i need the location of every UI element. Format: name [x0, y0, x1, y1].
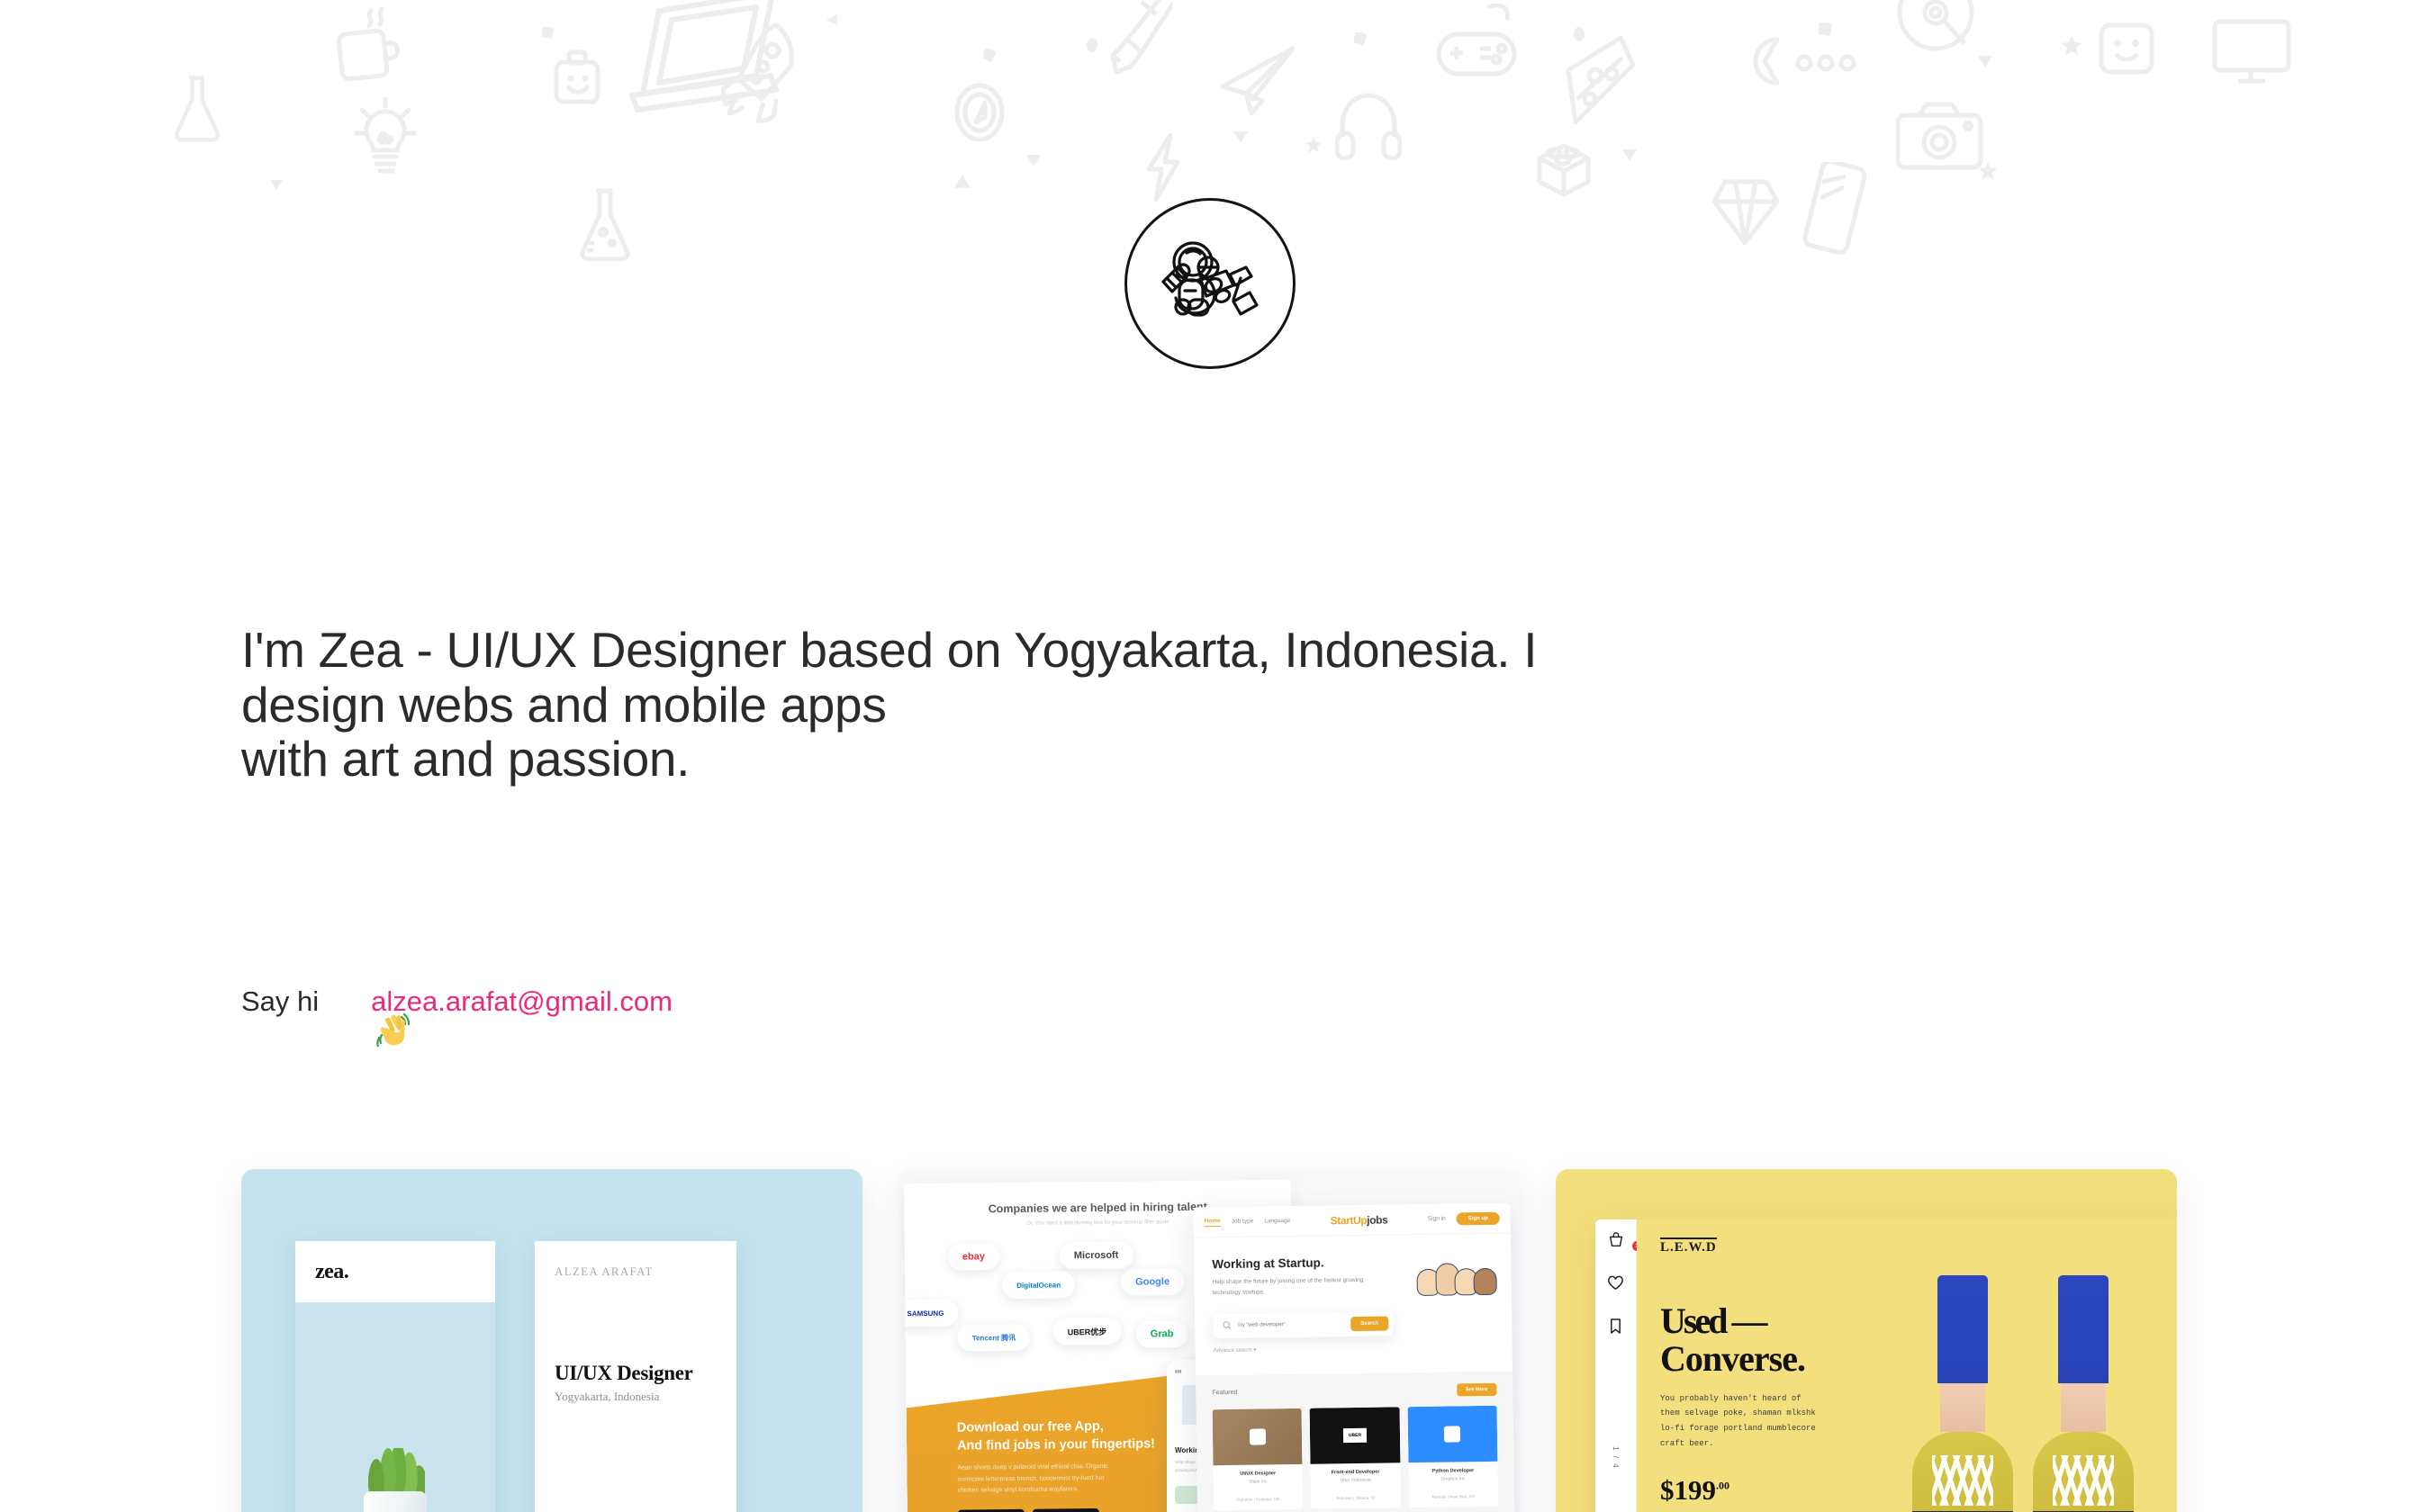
astronaut-logo-icon	[1124, 198, 1296, 369]
sparkle-icon	[542, 27, 555, 40]
see-more-button[interactable]: See More	[1457, 1382, 1497, 1396]
coffee-mug-icon	[333, 7, 403, 85]
lightbulb-icon	[353, 97, 418, 184]
contact-email-link[interactable]: alzea.arafat@gmail.com	[371, 987, 673, 1015]
job-company: Slack Inc	[1219, 1479, 1297, 1485]
nav-signin[interactable]: Sign in	[1428, 1216, 1446, 1222]
laptop-icon	[621, 0, 780, 119]
waving-hand-emoji	[328, 983, 364, 1019]
headphones-icon	[1335, 90, 1402, 160]
job-card[interactable]: Python Developer Dropbox Inc Remote | Ne…	[1407, 1405, 1498, 1507]
dot-icon	[378, 131, 389, 142]
cd-disc-icon	[1896, 0, 1975, 59]
lego-brick-icon	[1531, 135, 1597, 205]
plant-decoration	[361, 1448, 429, 1512]
star-icon	[2062, 36, 2081, 56]
smiley-icon	[2098, 13, 2155, 79]
project-card-converse-shop[interactable]: 3 1 / 4	[1556, 1169, 2177, 1512]
rocket-icon	[717, 20, 807, 124]
shop-browser-mockup: 3 1 / 4	[1595, 1219, 2177, 1512]
project-cards: zea. ALZEA ARAFAT UI/UX Designer Yogyaka…	[241, 1169, 2179, 1512]
site-hero: Working at Startup. Help shape the futur…	[1194, 1234, 1512, 1369]
search-button[interactable]: Search	[1350, 1317, 1388, 1332]
featured-jobs-section: Featured See More UI/UX Designer Slack I…	[1196, 1371, 1514, 1512]
say-hi-label: Say hi	[241, 987, 319, 1015]
cart-icon[interactable]: 3	[1608, 1232, 1624, 1253]
sparkle-icon	[1819, 22, 1833, 37]
lego-head-icon	[551, 49, 605, 114]
site-brand: StartUpjobs	[1331, 1213, 1388, 1227]
bizcard-location: Yogyakarta, Indonesia	[555, 1390, 717, 1404]
search-input[interactable]	[1237, 1321, 1344, 1328]
headline-line-1: I'm Zea - UI/UX Designer based on Yogyak…	[241, 623, 2132, 678]
google-play-badge[interactable]: ▶ Google play	[1033, 1508, 1099, 1512]
search-icon	[1223, 1318, 1231, 1334]
triangle-icon	[270, 180, 283, 191]
heart-icon[interactable]	[1607, 1274, 1624, 1296]
job-search-bar[interactable]: Search	[1213, 1311, 1393, 1338]
product-description: You probably haven't heard of them selva…	[1660, 1391, 1820, 1452]
pencil-icon	[1091, 0, 1172, 76]
lightning-bolt-icon	[1143, 133, 1183, 202]
triangle-icon	[1622, 149, 1637, 162]
screen-icon	[2211, 18, 2292, 88]
headline-line-3: with art and passion.	[241, 732, 2132, 787]
job-meta: Full-time | Jakarta, ID	[1316, 1495, 1395, 1500]
download-paragraph: Aean shorts deep v polaroid viral ethica…	[957, 1462, 1115, 1498]
bizcard-front: zea.	[295, 1241, 495, 1512]
camera-icon	[1896, 99, 1984, 173]
bizcard-back: ALZEA ARAFAT UI/UX Designer Yogyakarta, …	[535, 1241, 736, 1512]
sparkle-icon	[983, 49, 998, 63]
triangle-icon	[1978, 56, 1992, 68]
contact-line: Say hi alzea.arafat@gmail.com	[241, 983, 673, 1019]
job-title: Python Developer	[1413, 1468, 1492, 1474]
bizcard-name: ALZEA ARAFAT	[555, 1264, 717, 1279]
job-thumb	[1407, 1405, 1497, 1462]
nav-language[interactable]: Language	[1264, 1218, 1290, 1224]
paper-plane-icon	[1217, 45, 1298, 117]
headline-line-2: design webs and mobile apps	[241, 678, 2132, 733]
star-icon	[1305, 137, 1322, 153]
site-navbar: Home Job type Language StartUpjobs Sign …	[1193, 1203, 1510, 1238]
triangle-icon	[1233, 131, 1248, 144]
triangle-icon	[954, 175, 971, 189]
startupjobs-site-mockup: Home Job type Language StartUpjobs Sign …	[1193, 1203, 1514, 1512]
logo-uber: UBER优步	[1053, 1318, 1122, 1345]
site-logo[interactable]	[1124, 198, 1296, 369]
nav-jobtype[interactable]: Job type	[1232, 1219, 1254, 1225]
triangle-icon	[1026, 155, 1041, 167]
portfolio-page: I'm Zea - UI/UX Designer based on Yogyak…	[0, 0, 2420, 1512]
bookmark-icon[interactable]	[1609, 1318, 1622, 1339]
job-card[interactable]: UBER Front-end Developer Uber Indonesia …	[1310, 1407, 1401, 1508]
page-headline: I'm Zea - UI/UX Designer based on Yogyak…	[241, 623, 2132, 787]
shop-sidebar: 3 1 / 4	[1595, 1219, 1637, 1512]
converse-photo	[1896, 1219, 2177, 1512]
smartphone-icon	[1801, 162, 1867, 257]
pacman-icon	[1738, 36, 1864, 86]
project-card-business-card[interactable]: zea. ALZEA ARAFAT UI/UX Designer Yogyaka…	[241, 1169, 862, 1512]
job-meta: Full-time | Portland, OR	[1219, 1497, 1297, 1502]
diamond-icon	[1711, 173, 1781, 247]
job-company: Dropbox Inc	[1413, 1476, 1492, 1482]
nav-home[interactable]: Home	[1205, 1218, 1221, 1227]
logo-digitalocean: DigitalOcean	[1002, 1271, 1075, 1299]
people-illustration	[1421, 1263, 1496, 1296]
shop-brand: L.E.W.D	[1660, 1237, 1717, 1255]
job-title: UI/UX Designer	[1219, 1471, 1297, 1477]
advance-search-toggle[interactable]: Advance search ▾	[1214, 1344, 1494, 1354]
dot-icon	[1573, 27, 1585, 41]
logo-grab: Grab	[1136, 1320, 1188, 1348]
flask-icon	[171, 74, 223, 144]
sparkle-icon	[1354, 32, 1368, 47]
star-icon	[1979, 162, 1997, 180]
logo-ebay: ebay	[948, 1243, 999, 1271]
logo-samsung: SAMSUNG	[904, 1300, 959, 1327]
job-meta: Remote | New York, NY	[1414, 1494, 1493, 1499]
bizcard-role: UI/UX Designer	[555, 1362, 717, 1385]
job-title: Front-end Developer	[1316, 1469, 1395, 1475]
nav-signup-button[interactable]: Sign up	[1457, 1211, 1500, 1225]
job-thumb: UBER	[1310, 1407, 1400, 1463]
logo-tencent: Tencent 腾讯	[958, 1324, 1031, 1352]
shop-hero: L.E.W.D Used — Converse. You probably ha…	[1637, 1219, 2177, 1512]
triangle-icon	[825, 13, 839, 27]
dot-icon	[1086, 38, 1098, 52]
hero-paragraph: Help shape the future by joining one of …	[1213, 1275, 1375, 1300]
gamepad-icon	[1437, 4, 1536, 90]
pizza-slice-icon	[1565, 34, 1640, 130]
project-card-startupjobs[interactable]: Companies we are helped in hiring talent…	[898, 1169, 1520, 1512]
compass-icon	[954, 83, 1005, 142]
featured-label: Featured	[1212, 1390, 1237, 1396]
job-company: Uber Indonesia	[1316, 1477, 1395, 1483]
logo-microsoft: Microsoft	[1060, 1242, 1133, 1270]
zea-logo-text: zea.	[315, 1260, 348, 1284]
flask-icon	[576, 187, 634, 261]
logo-google: Google	[1121, 1268, 1184, 1296]
job-card[interactable]: UI/UX Designer Slack Inc Full-time | Por…	[1213, 1408, 1304, 1510]
slide-pager[interactable]: 1 / 4	[1612, 1446, 1620, 1470]
job-thumb	[1213, 1408, 1303, 1465]
